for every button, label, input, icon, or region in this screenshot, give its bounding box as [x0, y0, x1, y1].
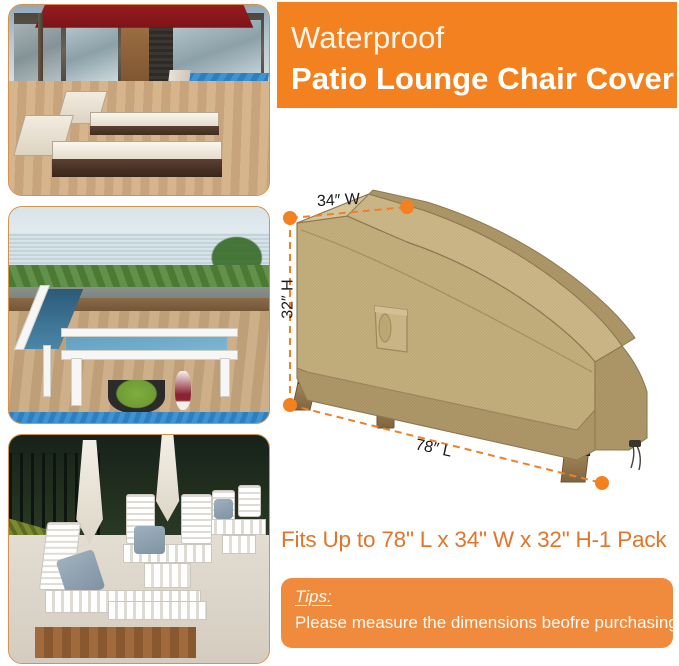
- tips-box: Tips: Please measure the dimensions beof…: [281, 578, 673, 648]
- fits-up-to-text: Fits Up to 78" L x 34" W x 32" H-1 Pack: [281, 527, 679, 553]
- tips-body: Please measure the dimensions beofre pur…: [295, 613, 659, 633]
- dimension-label-height: 32″ H: [280, 279, 298, 318]
- product-illustration: 34″ W 32″ H 78″ L: [277, 110, 679, 515]
- width-end-dot: [400, 200, 414, 214]
- photo-patio-white-lounge-chairs: [8, 434, 270, 664]
- tips-title: Tips:: [295, 587, 332, 607]
- page-title-line1: Waterproof: [291, 18, 677, 58]
- width-start-dot: [283, 211, 297, 225]
- product-infographic: Waterproof Patio Lounge Chair Cover: [0, 0, 679, 666]
- height-end-dot: [283, 398, 297, 412]
- page-title-line2: Patio Lounge Chair Cover: [291, 58, 677, 100]
- lounge-chair-cover-drawing: [277, 110, 679, 515]
- photo-ocean-view-lounge-chair: [8, 206, 270, 424]
- cover-handle: [375, 306, 407, 352]
- length-end-dot: [595, 476, 609, 490]
- header-banner: Waterproof Patio Lounge Chair Cover: [277, 2, 677, 108]
- photo-poolside-lounge-chairs: [8, 4, 270, 196]
- drawstring-toggle: [629, 440, 641, 470]
- dimension-label-width: 34″ W: [317, 191, 361, 211]
- photo-gallery: [8, 4, 270, 664]
